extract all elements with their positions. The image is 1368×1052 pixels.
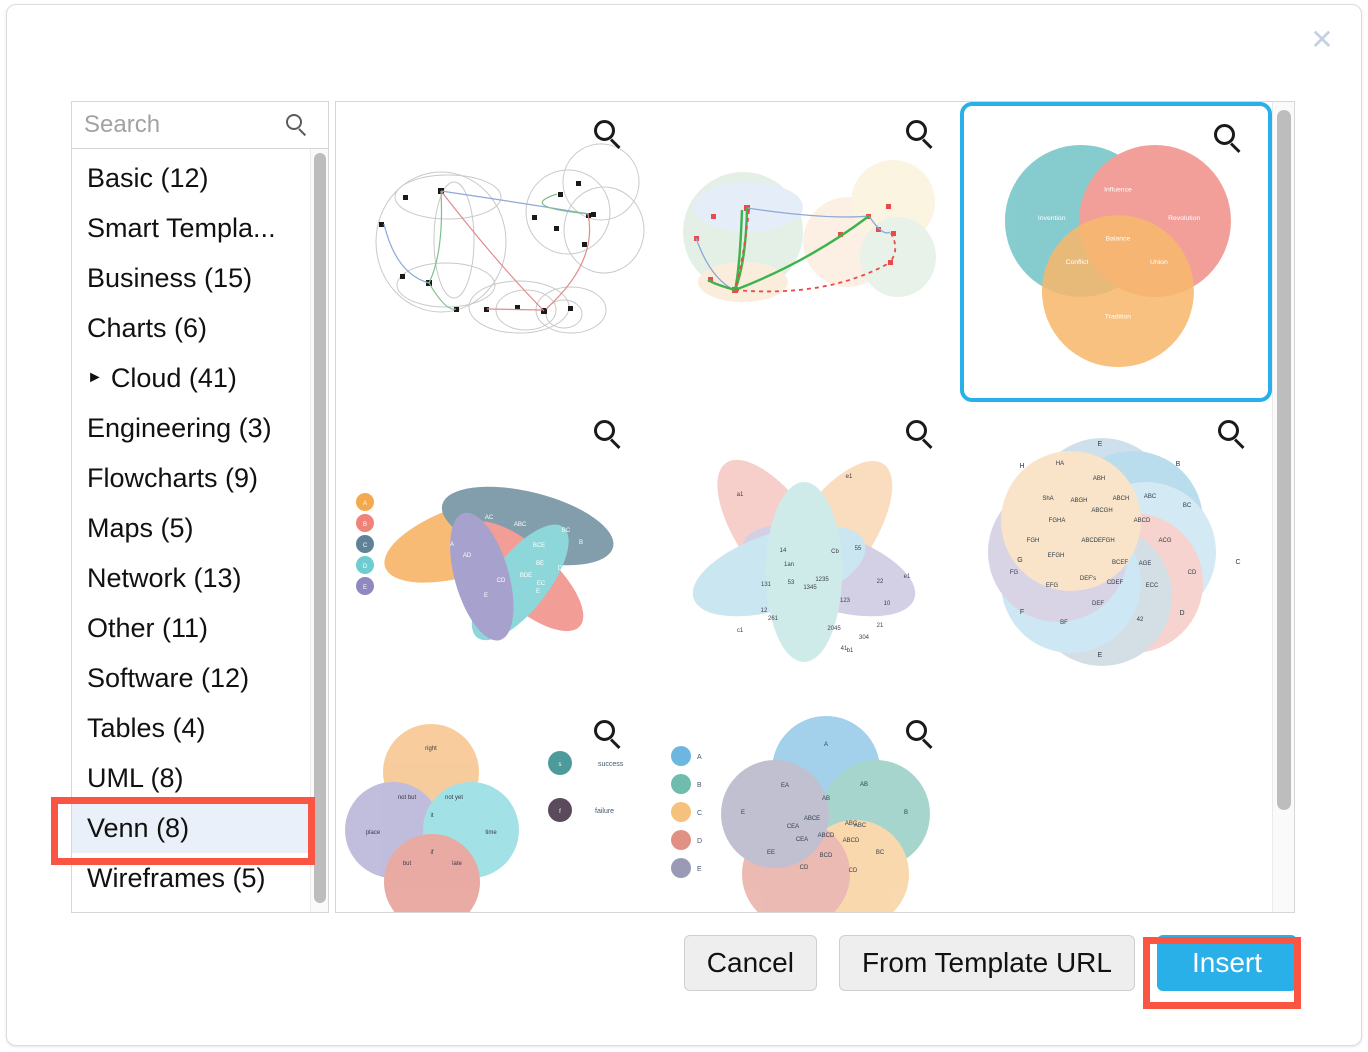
- svg-text:CD: CD: [849, 868, 858, 874]
- svg-text:DEF's: DEF's: [1080, 576, 1096, 582]
- sidebar-item-label: UML (8): [87, 763, 184, 793]
- svg-text:CEA: CEA: [796, 837, 808, 843]
- svg-text:ABCGH: ABCGH: [1091, 508, 1112, 514]
- svg-text:ShA: ShA: [1042, 496, 1053, 502]
- sidebar-item-label: Basic (12): [87, 163, 209, 193]
- svg-text:s: s: [559, 762, 562, 768]
- sidebar-item-label: Business (15): [87, 263, 252, 293]
- template-item-euler-diagram-outline[interactable]: [336, 102, 648, 402]
- sidebar-item-label: Tables (4): [87, 713, 206, 743]
- svg-text:14: 14: [780, 548, 787, 554]
- insert-template-dialog: ✕ Basic (12)Smart Templa...Business (15)…: [6, 4, 1362, 1046]
- preview-scrollbar-track[interactable]: [1272, 102, 1294, 912]
- svg-text:E: E: [1098, 652, 1103, 659]
- template-item-five-circle-venn-legend[interactable]: A B C D E: [648, 702, 960, 913]
- svg-text:right: right: [425, 746, 437, 752]
- template-item-five-ellipse-venn-legend[interactable]: A B C D E: [336, 402, 648, 702]
- svg-text:261: 261: [768, 616, 779, 622]
- svg-text:ABH: ABH: [1093, 476, 1105, 482]
- svg-text:ABGH: ABGH: [1070, 498, 1087, 504]
- preview-scrollbar-thumb[interactable]: [1277, 110, 1291, 810]
- svg-text:ABCD: ABCD: [843, 838, 860, 844]
- sidebar-item-uml-8[interactable]: UML (8): [72, 753, 310, 803]
- svg-text:BE: BE: [536, 561, 544, 567]
- svg-text:c1: c1: [737, 628, 744, 634]
- svg-text:B: B: [904, 810, 908, 816]
- svg-text:ECC: ECC: [1146, 583, 1159, 589]
- svg-text:D: D: [1179, 610, 1184, 617]
- template-item-placeholder: [960, 702, 1272, 913]
- svg-text:E: E: [363, 585, 367, 591]
- legend: A B C D E: [671, 746, 702, 878]
- sidebar-item-flowcharts-9[interactable]: Flowcharts (9): [72, 453, 310, 503]
- sidebar-item-label: Maps (5): [87, 513, 194, 543]
- svg-text:late: late: [452, 861, 462, 867]
- svg-text:G: G: [1017, 557, 1022, 564]
- svg-text:FG: FG: [1010, 570, 1019, 576]
- sidebar-item-label: Network (13): [87, 563, 242, 593]
- sidebar-item-network-13[interactable]: Network (13): [72, 553, 310, 603]
- svg-text:304: 304: [859, 635, 870, 641]
- svg-text:55: 55: [855, 546, 862, 552]
- svg-text:E: E: [536, 589, 540, 595]
- category-sidebar: Basic (12)Smart Templa...Business (15)Ch…: [71, 101, 329, 913]
- svg-text:AB: AB: [822, 796, 830, 802]
- from-template-url-button[interactable]: From Template URL: [839, 935, 1135, 991]
- magnifier-icon[interactable]: [594, 720, 624, 755]
- svg-text:not yet: not yet: [445, 795, 463, 801]
- svg-text:EC: EC: [537, 581, 546, 587]
- sidebar-item-engineering-3[interactable]: Engineering (3): [72, 403, 310, 453]
- sidebar-scrollbar-thumb[interactable]: [314, 153, 326, 903]
- svg-text:failure: failure: [595, 808, 614, 815]
- category-list-container: Basic (12)Smart Templa...Business (15)Ch…: [71, 148, 329, 913]
- svg-text:AC: AC: [485, 515, 494, 521]
- svg-text:BCD: BCD: [820, 853, 833, 859]
- svg-text:1235: 1235: [815, 577, 829, 583]
- sidebar-item-wireframes-5[interactable]: Wireframes (5): [72, 853, 310, 903]
- sidebar-item-label: Flowcharts (9): [87, 463, 258, 493]
- svg-text:BCEF: BCEF: [1112, 560, 1128, 566]
- svg-text:it: it: [431, 813, 434, 819]
- sidebar-item-label: Cloud (41): [111, 363, 237, 393]
- category-list: Basic (12)Smart Templa...Business (15)Ch…: [72, 149, 310, 912]
- sidebar-item-charts-6[interactable]: Charts (6): [72, 303, 310, 353]
- svg-text:E: E: [484, 593, 488, 599]
- svg-text:D: D: [558, 566, 563, 572]
- template-row: A B C D E: [336, 402, 1272, 702]
- sidebar-item-software-12[interactable]: Software (12): [72, 653, 310, 703]
- svg-text:10: 10: [884, 601, 891, 607]
- template-grid: Invention Revolution Tradition Influence…: [336, 102, 1272, 912]
- svg-text:E: E: [1098, 441, 1103, 448]
- svg-text:CD: CD: [1188, 570, 1197, 576]
- svg-text:D: D: [697, 838, 702, 845]
- svg-text:131: 131: [761, 582, 772, 588]
- svg-text:e1: e1: [846, 474, 853, 480]
- svg-text:1345: 1345: [803, 585, 817, 591]
- svg-text:41: 41: [841, 646, 848, 652]
- svg-text:BF: BF: [1060, 620, 1068, 626]
- insert-button[interactable]: Insert: [1157, 935, 1297, 991]
- svg-text:A: A: [697, 754, 702, 761]
- svg-text:A: A: [363, 501, 367, 507]
- svg-text:21: 21: [877, 623, 884, 629]
- svg-text:123: 123: [840, 598, 851, 604]
- svg-text:DEF: DEF: [1092, 601, 1104, 607]
- sidebar-item-maps-5[interactable]: Maps (5): [72, 503, 310, 553]
- svg-text:ABC: ABC: [514, 522, 527, 528]
- template-item-four-circle-venn-success-failure[interactable]: right place time not but not yet it but …: [336, 702, 648, 913]
- svg-text:CD: CD: [497, 578, 506, 584]
- svg-text:AD: AD: [463, 553, 472, 559]
- svg-text:ACG: ACG: [1158, 538, 1171, 544]
- svg-text:B: B: [363, 522, 367, 528]
- magnifier-icon[interactable]: [906, 420, 936, 455]
- magnifier-icon[interactable]: [906, 120, 936, 155]
- sidebar-item-basic-12[interactable]: Basic (12): [72, 153, 310, 203]
- svg-text:BCE: BCE: [533, 543, 545, 549]
- svg-text:EA: EA: [781, 783, 789, 789]
- svg-text:BDE: BDE: [520, 573, 532, 579]
- svg-text:53: 53: [788, 580, 795, 586]
- svg-text:CD: CD: [800, 865, 809, 871]
- svg-text:ABC: ABC: [854, 823, 867, 829]
- svg-text:AGE: AGE: [1139, 561, 1152, 567]
- svg-text:C: C: [1235, 559, 1240, 566]
- svg-text:ABCDEFGH: ABCDEFGH: [1081, 538, 1114, 544]
- svg-text:Revolution: Revolution: [1168, 215, 1200, 222]
- search-box[interactable]: [71, 101, 329, 149]
- svg-text:a1: a1: [737, 492, 744, 498]
- legend: A B C D E: [356, 493, 374, 595]
- sidebar-item-other-11[interactable]: Other (11): [72, 603, 310, 653]
- sidebar-item-business-15[interactable]: Business (15): [72, 253, 310, 303]
- svg-text:success: success: [598, 761, 624, 768]
- svg-text:EFGH: EFGH: [1048, 553, 1065, 559]
- magnifier-icon[interactable]: [1214, 124, 1244, 159]
- svg-text:ABCD: ABCD: [818, 833, 835, 839]
- svg-text:but: but: [403, 861, 412, 867]
- svg-text:time: time: [485, 830, 497, 836]
- legend: s success f failure: [548, 751, 624, 822]
- magnifier-icon[interactable]: [594, 120, 624, 155]
- search-icon: [286, 114, 308, 136]
- svg-text:D: D: [363, 564, 368, 570]
- svg-text:BC: BC: [562, 528, 571, 534]
- svg-text:12: 12: [761, 608, 768, 614]
- svg-text:HA: HA: [1056, 461, 1064, 467]
- sidebar-item-tables-4[interactable]: Tables (4): [72, 703, 310, 753]
- sidebar-item-label: Wireframes (5): [87, 863, 266, 893]
- svg-text:C: C: [697, 810, 702, 817]
- svg-text:BC: BC: [1183, 503, 1192, 509]
- sidebar-item-label: Engineering (3): [87, 413, 272, 443]
- template-row: right place time not but not yet it but …: [336, 702, 1272, 913]
- sidebar-item-label: Charts (6): [87, 313, 207, 343]
- svg-text:42: 42: [1137, 617, 1144, 623]
- svg-text:not but: not but: [398, 795, 417, 801]
- sidebar-item-cloud-41[interactable]: ►Cloud (41): [72, 353, 310, 403]
- svg-text:Balance: Balance: [1106, 235, 1131, 242]
- svg-text:CEA: CEA: [787, 824, 799, 830]
- svg-text:H: H: [1019, 463, 1024, 470]
- svg-text:ABC: ABC: [1144, 494, 1157, 500]
- svg-text:B: B: [1176, 461, 1181, 468]
- svg-text:22: 22: [877, 579, 884, 585]
- magnifier-icon[interactable]: [1218, 420, 1248, 455]
- magnifier-icon[interactable]: [594, 420, 624, 455]
- svg-text:Invention: Invention: [1038, 215, 1066, 222]
- sidebar-item-smart-templa[interactable]: Smart Templa...: [72, 203, 310, 253]
- svg-text:ABCD: ABCD: [1134, 518, 1151, 524]
- sidebar-item-label: Smart Templa...: [87, 213, 276, 243]
- svg-text:BC: BC: [876, 850, 885, 856]
- svg-text:AB: AB: [860, 782, 868, 788]
- svg-text:Cb: Cb: [831, 549, 839, 555]
- sidebar-scrollbar-track[interactable]: [310, 149, 328, 912]
- svg-text:ABCE: ABCE: [804, 816, 820, 822]
- svg-text:A: A: [450, 542, 454, 548]
- template-item-three-circle-venn[interactable]: Invention Revolution Tradition Influence…: [960, 102, 1272, 402]
- svg-text:1an: 1an: [784, 562, 794, 568]
- expand-arrow-icon[interactable]: ►: [87, 353, 103, 403]
- template-item-euler-diagram-shaded[interactable]: [648, 102, 960, 402]
- sidebar-item-label: Other (11): [87, 613, 208, 643]
- svg-text:EFG: EFG: [1046, 583, 1059, 589]
- svg-text:2045: 2045: [827, 626, 841, 632]
- sidebar-item-venn-8[interactable]: Venn (8): [72, 803, 310, 853]
- svg-text:FGH: FGH: [1027, 538, 1040, 544]
- template-item-five-petal-venn-numbers[interactable]: a1e1 e1b1 c1 14Cb 551an 123522 53123 101…: [648, 402, 960, 702]
- magnifier-icon[interactable]: [906, 720, 936, 755]
- svg-text:F: F: [1020, 609, 1024, 616]
- cancel-button[interactable]: Cancel: [684, 935, 817, 991]
- search-input[interactable]: [72, 103, 282, 147]
- svg-text:CDEF: CDEF: [1107, 580, 1124, 586]
- svg-text:ABCH: ABCH: [1113, 496, 1130, 502]
- svg-text:Influence: Influence: [1104, 187, 1132, 194]
- template-item-eight-circle-venn[interactable]: CG EE HB FD HAABH ShAABGH ABCHABCGH ABCB…: [960, 402, 1272, 702]
- svg-text:place: place: [366, 830, 381, 836]
- sidebar-item-label: Software (12): [87, 663, 249, 693]
- svg-text:if: if: [431, 850, 434, 856]
- svg-text:C: C: [363, 543, 368, 549]
- svg-text:FGHA: FGHA: [1049, 518, 1066, 524]
- close-icon[interactable]: ✕: [1305, 23, 1339, 57]
- svg-text:b1: b1: [847, 648, 854, 654]
- svg-text:B: B: [697, 782, 702, 789]
- template-row: Invention Revolution Tradition Influence…: [336, 102, 1272, 402]
- svg-text:Union: Union: [1150, 259, 1168, 266]
- svg-text:B: B: [579, 540, 583, 546]
- sidebar-item-label: Venn (8): [87, 813, 189, 843]
- svg-text:A: A: [824, 742, 828, 748]
- svg-text:e1: e1: [904, 574, 911, 580]
- template-preview-panel: Invention Revolution Tradition Influence…: [335, 101, 1295, 913]
- svg-text:Tradition: Tradition: [1105, 313, 1131, 320]
- svg-text:Conflict: Conflict: [1066, 259, 1089, 266]
- insert-button-wrapper: Insert: [1157, 935, 1297, 991]
- svg-text:E: E: [697, 866, 702, 873]
- svg-text:E: E: [741, 810, 745, 816]
- dialog-footer: Cancel From Template URL Insert: [7, 935, 1361, 1015]
- svg-text:EE: EE: [767, 850, 775, 856]
